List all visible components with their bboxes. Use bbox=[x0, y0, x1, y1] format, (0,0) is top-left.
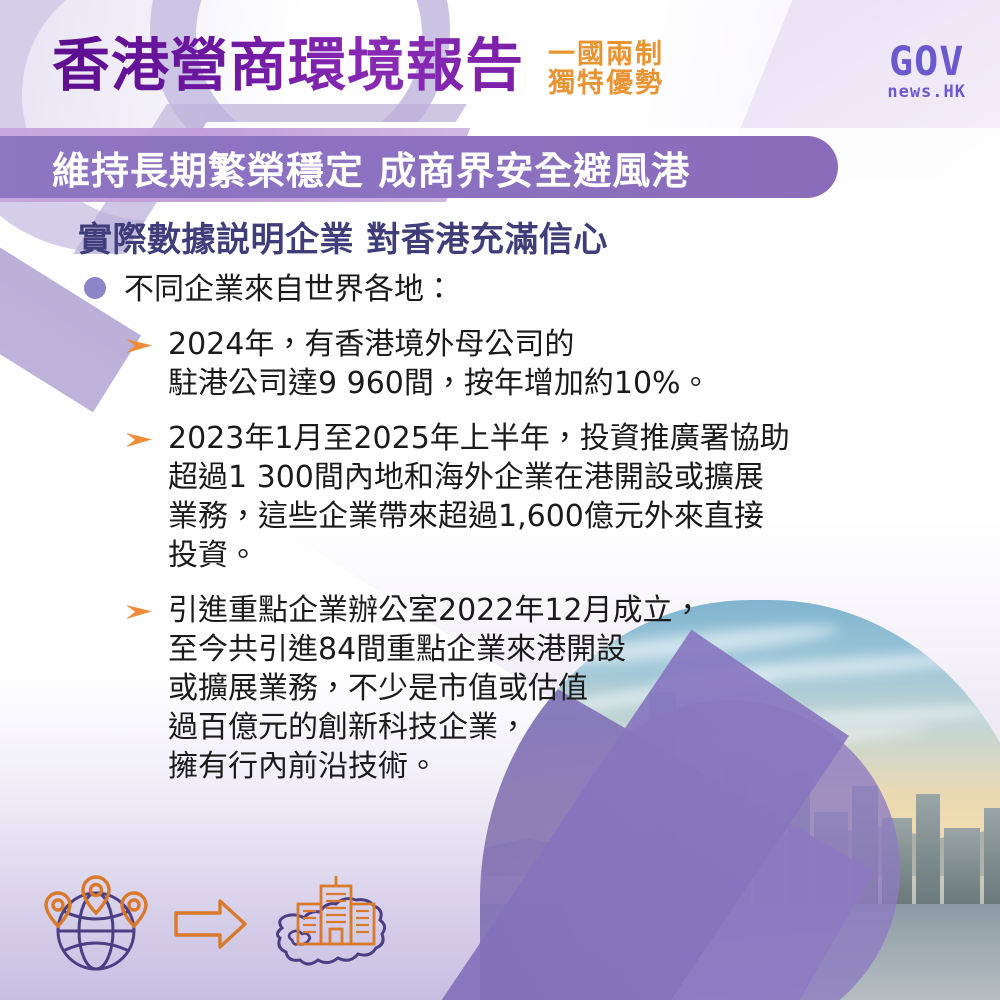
subtitle-line-2: 獨特優勢 bbox=[548, 69, 664, 98]
list-item-text: 2023年1月至2025年上半年，投資推廣署協助 超過1 300間內地和海外企業… bbox=[168, 419, 790, 575]
infographic-poster: 香港營商環境報告 一國兩制 獨特優勢 GOV news.HK 維持長期繁榮穩定 … bbox=[0, 0, 1000, 1000]
right-arrow-icon bbox=[174, 897, 248, 956]
list-item: 引進重點企業辦公室2022年12月成立， 至今共引進84間重點企業來港開設 或擴… bbox=[126, 591, 1000, 786]
skyline-building bbox=[984, 808, 1000, 904]
headline-banner: 維持長期繁榮穩定 成商界安全避風港 bbox=[0, 136, 838, 198]
logo-gov-text: GOV bbox=[887, 42, 966, 82]
lead-text: 不同企業來自世界各地： bbox=[124, 271, 454, 309]
bottom-icon-group bbox=[36, 866, 401, 986]
globe-with-location-pins-icon bbox=[36, 869, 156, 984]
lead-row: 不同企業來自世界各地： bbox=[84, 271, 1000, 309]
arrowhead-icon bbox=[126, 336, 156, 361]
skyline-building bbox=[944, 828, 980, 904]
arrowhead-icon bbox=[126, 602, 156, 627]
logo-newshk-text: news.HK bbox=[887, 84, 966, 101]
page-title: 香港營商環境報告 bbox=[52, 36, 524, 94]
list-item: 2023年1月至2025年上半年，投資推廣署協助 超過1 300間內地和海外企業… bbox=[126, 419, 1000, 575]
bullet-dot-icon bbox=[84, 277, 106, 299]
skyline-building bbox=[916, 794, 940, 904]
govnews-logo[interactable]: GOV news.HK bbox=[887, 42, 966, 101]
list-item-text: 2024年，有香港境外母公司的 駐港公司達9 960間，按年增加約10%。 bbox=[168, 325, 711, 403]
section-heading: 實際數據説明企業 對香港充滿信心 bbox=[78, 212, 1000, 261]
hongkong-map-with-buildings-icon bbox=[266, 866, 401, 986]
list-item-text: 引進重點企業辦公室2022年12月成立， 至今共引進84間重點企業來港開設 或擴… bbox=[168, 591, 703, 786]
list-item: 2024年，有香港境外母公司的 駐港公司達9 960間，按年增加約10%。 bbox=[126, 325, 1000, 403]
content-area: 實際數據説明企業 對香港充滿信心 不同企業來自世界各地： 2024年，有香港境外… bbox=[0, 212, 1000, 786]
title-subtitle: 一國兩制 獨特優勢 bbox=[548, 40, 664, 98]
headline-banner-text: 維持長期繁榮穩定 成商界安全避風港 bbox=[52, 140, 690, 195]
arrowhead-icon bbox=[126, 430, 156, 455]
subtitle-line-1: 一國兩制 bbox=[548, 40, 664, 69]
